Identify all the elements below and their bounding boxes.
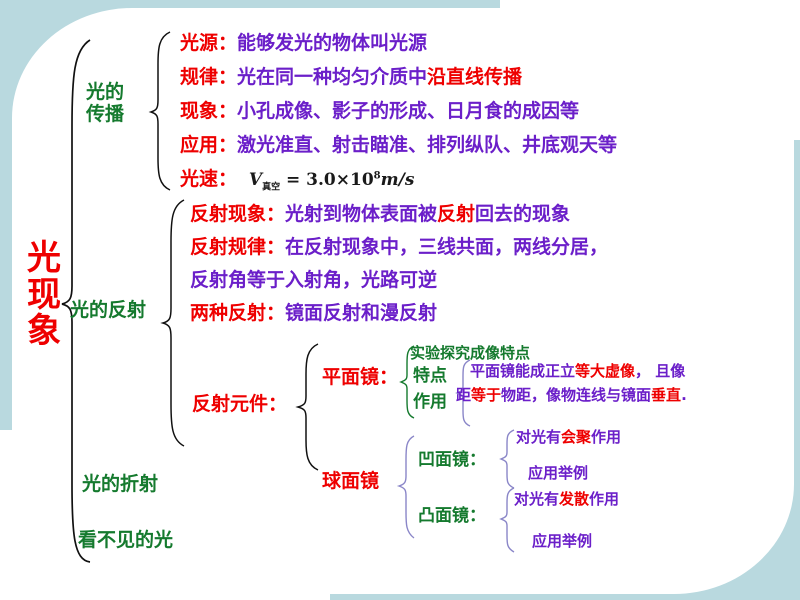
plane-mirror-detail-0-0: 平面镜能成正立 bbox=[470, 362, 575, 380]
plane-mirror-detail-1-0: 距 bbox=[456, 386, 471, 404]
formula-value: 3.0 bbox=[306, 170, 336, 190]
spherical-mirror-brace bbox=[398, 434, 418, 540]
concave-line-0-1: 会聚 bbox=[561, 428, 591, 446]
reflection-row-2: 反射角等于入射角，光路可逆 bbox=[190, 271, 437, 290]
reflection-key-1: 反射规律： bbox=[190, 236, 285, 258]
plane-mirror-subitem-1-text: 特点 bbox=[413, 366, 447, 386]
propagation-brace bbox=[150, 30, 174, 194]
propagation-row-4: 光速： V真空 = 3.0×108m/s bbox=[180, 170, 414, 192]
concave-line-1-0: 应用举例 bbox=[528, 464, 588, 482]
plane-mirror-subitem-1: 特点 bbox=[413, 368, 447, 385]
plane-mirror-detail-line-1: 距等于物距，像物连线与镜面垂直. bbox=[456, 388, 687, 403]
plane-mirror-detail-0-1: 等大虚像 bbox=[575, 362, 635, 380]
reflection-text-2-0: 反射角等于入射角，光路可逆 bbox=[190, 269, 437, 291]
plane-mirror-detail-1-1: 等于 bbox=[471, 386, 501, 404]
plane-mirror-label: 平面镜： bbox=[322, 368, 398, 387]
convex-line-1-0: 应用举例 bbox=[532, 532, 592, 550]
concave-line-0-0: 对光有 bbox=[516, 428, 561, 446]
formula-base: 10 bbox=[350, 170, 374, 190]
panel-corner-fill-bottom-left bbox=[0, 430, 330, 600]
plane-mirror-detail-0-2: ， 且像 bbox=[635, 362, 685, 380]
propagation-key-3: 应用： bbox=[180, 134, 237, 156]
plane-mirror-detail-1-2: 物距，像物连线与镜面 bbox=[501, 386, 651, 404]
branch-label-invisible: 看不见的光 bbox=[78, 530, 173, 552]
formula-exponent: 8 bbox=[374, 170, 381, 181]
reflection-text-3-0: 镜面反射和漫反射 bbox=[285, 302, 437, 324]
propagation-text-0-0: 能够发光的物体叫光源 bbox=[237, 32, 427, 54]
branch-label-propagation: 光的 传播 bbox=[86, 82, 124, 126]
slide-canvas: 光 现 象 光的 传播 光源：能够发光的物体叫光源 规律：光在同一种均匀介质中沿… bbox=[0, 0, 800, 600]
convex-line-0-1: 发散 bbox=[559, 490, 589, 508]
reflection-key-3: 两种反射： bbox=[190, 302, 285, 324]
reflection-text-0-1: 反射 bbox=[437, 203, 475, 225]
formula-subscript: 真空 bbox=[262, 182, 280, 192]
reflection-components-label: 反射元件： bbox=[192, 395, 287, 414]
concave-line-0-2: 作用 bbox=[591, 428, 621, 446]
plane-mirror-detail-line-0: 平面镜能成正立等大虚像， 且像 bbox=[470, 364, 685, 379]
convex-line-0-2: 作用 bbox=[589, 490, 619, 508]
propagation-text-1-0: 光在同一种均匀介质中 bbox=[237, 66, 427, 88]
convex-mirror-label: 凸面镜： bbox=[418, 508, 486, 525]
concave-mirror-label: 凹面镜： bbox=[418, 452, 486, 469]
branch-label-reflection-text: 光的反射 bbox=[70, 300, 146, 322]
plane-mirror-subitem-2: 作用 bbox=[413, 394, 447, 411]
convex-line-0: 对光有发散作用 bbox=[514, 492, 619, 507]
plane-mirror-detail-1-3: 垂直 bbox=[651, 386, 681, 404]
branch-label-invisible-text: 看不见的光 bbox=[78, 530, 173, 552]
reflection-components-brace bbox=[296, 342, 322, 472]
propagation-text-1-1: 沿直线传播 bbox=[427, 66, 522, 88]
formula-equals: = bbox=[286, 170, 300, 190]
plane-mirror-subitem-2-text: 作用 bbox=[413, 392, 447, 412]
concave-mirror-label-text: 凹面镜： bbox=[418, 450, 486, 470]
reflection-row-3: 两种反射：镜面反射和漫反射 bbox=[190, 304, 437, 323]
plane-mirror-detail-1-4: . bbox=[681, 386, 687, 404]
propagation-row-1: 规律：光在同一种均匀介质中沿直线传播 bbox=[180, 68, 522, 87]
propagation-text-2-0: 小孔成像、影子的形成、日月食的成因等 bbox=[237, 100, 579, 122]
reflection-brace bbox=[162, 198, 188, 448]
light-speed-formula: V真空 = 3.0×108m/s bbox=[237, 170, 414, 190]
reflection-row-1: 反射规律：在反射现象中，三线共面，两线分居， bbox=[190, 238, 608, 257]
reflection-text-0-0: 光射到物体表面被 bbox=[285, 203, 437, 225]
spherical-mirror-label: 球面镜 bbox=[322, 472, 379, 491]
reflection-components-label-text: 反射元件： bbox=[192, 393, 287, 415]
branch-label-refraction-text: 光的折射 bbox=[82, 474, 158, 496]
plane-mirror-label-text: 平面镜： bbox=[322, 366, 398, 388]
convex-line-0-0: 对光有 bbox=[514, 490, 559, 508]
propagation-row-3: 应用：激光准直、射击瞄准、排列纵队、井底观天等 bbox=[180, 136, 617, 155]
propagation-text-3-0: 激光准直、射击瞄准、排列纵队、井底观天等 bbox=[237, 134, 617, 156]
branch-label-propagation-line1: 光的 bbox=[86, 82, 124, 104]
propagation-key-4: 光速： bbox=[180, 168, 237, 190]
propagation-key-0: 光源： bbox=[180, 32, 237, 54]
convex-line-1: 应用举例 bbox=[532, 534, 592, 549]
propagation-key-2: 现象： bbox=[180, 100, 237, 122]
reflection-text-1-0: 在反射现象中，三线共面，两线分居， bbox=[285, 236, 608, 258]
formula-times: × bbox=[336, 170, 350, 190]
formula-unit: m/s bbox=[381, 170, 415, 190]
propagation-row-2: 现象：小孔成像、影子的形成、日月食的成因等 bbox=[180, 102, 579, 121]
convex-mirror-label-text: 凸面镜： bbox=[418, 506, 486, 526]
formula-symbol: V bbox=[249, 170, 262, 190]
branch-label-propagation-line2: 传播 bbox=[86, 104, 124, 126]
reflection-text-0-2: 回去的现象 bbox=[475, 203, 570, 225]
reflection-key-0: 反射现象： bbox=[190, 203, 285, 225]
concave-line-0: 对光有会聚作用 bbox=[516, 430, 621, 445]
propagation-row-0: 光源：能够发光的物体叫光源 bbox=[180, 34, 427, 53]
branch-label-refraction: 光的折射 bbox=[82, 474, 158, 496]
spherical-mirror-label-text: 球面镜 bbox=[322, 470, 379, 492]
concave-line-1: 应用举例 bbox=[528, 466, 588, 481]
branch-label-reflection: 光的反射 bbox=[70, 300, 146, 322]
reflection-row-0: 反射现象：光射到物体表面被反射回去的现象 bbox=[190, 205, 570, 224]
propagation-key-1: 规律： bbox=[180, 66, 237, 88]
